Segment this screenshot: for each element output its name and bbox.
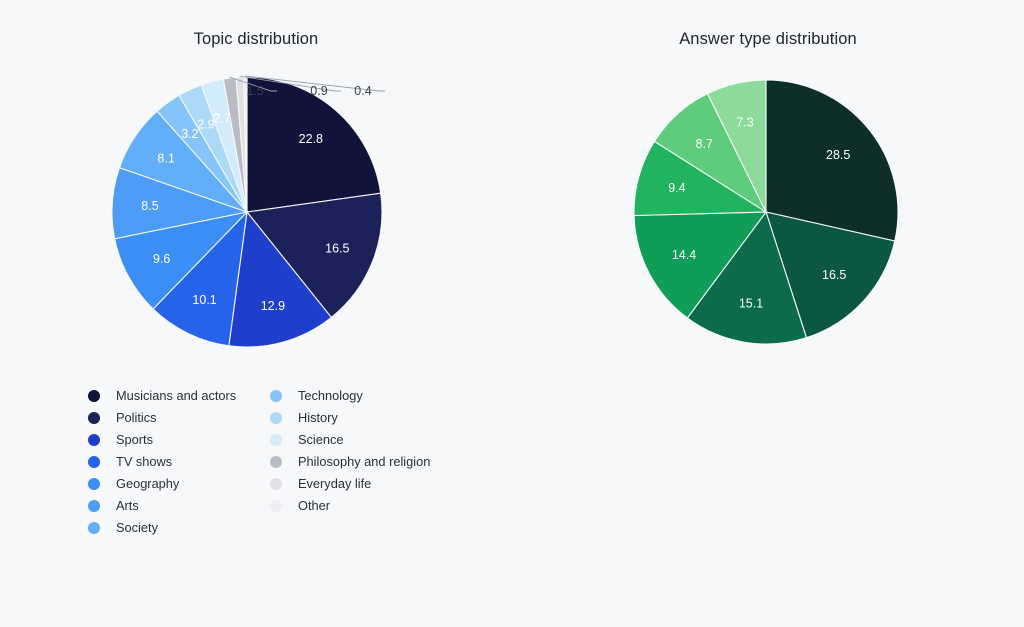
legend-item-label: Philosophy and religion — [298, 456, 430, 469]
legend-swatch-icon — [88, 522, 100, 534]
legend-swatch-icon — [88, 434, 100, 446]
pie-slice-value-label-outside: 1.5 — [246, 84, 263, 98]
legend-item-label: Sports — [116, 434, 153, 447]
pie-slice-value-label: 15.1 — [739, 297, 763, 311]
legend-swatch-icon — [270, 412, 282, 424]
pie-slice-value-label: 16.5 — [325, 241, 349, 255]
pie-slice-value-label: 8.5 — [141, 199, 158, 213]
legend-item-label: Geography — [116, 478, 179, 491]
pie-svg-answer-type: 28.516.515.114.49.48.77.3 — [616, 62, 916, 362]
legend-item[interactable]: Science — [270, 429, 430, 451]
legend-item-label: Musicians and actors — [116, 390, 236, 403]
legend-swatch-icon — [270, 434, 282, 446]
pie-slice-value-label: 7.3 — [736, 116, 753, 130]
legend-swatch-icon — [88, 500, 100, 512]
legend-item[interactable]: Other — [270, 495, 430, 517]
panel-topic-distribution: Topic distribution 22.816.512.910.19.68.… — [0, 0, 512, 627]
legend-topic-distribution: Musicians and actorsPoliticsSportsTV sho… — [88, 385, 430, 539]
legend-swatch-icon — [270, 500, 282, 512]
panel-answer-type-distribution: Answer type distribution 28.516.515.114.… — [512, 0, 1024, 627]
pie-slice-value-label: 2.9 — [197, 117, 214, 131]
legend-item[interactable]: Politics — [88, 407, 270, 429]
pie-slice-value-label-outside: 0.9 — [310, 84, 327, 98]
pie-slice-value-label: 12.9 — [261, 299, 285, 313]
legend-swatch-icon — [270, 478, 282, 490]
legend-item[interactable]: Society — [88, 517, 270, 539]
legend-item-label: Other — [298, 500, 330, 513]
legend-swatch-icon — [88, 478, 100, 490]
page-title-answer-type-distribution: Answer type distribution — [512, 30, 1024, 49]
pie-slice-value-label: 28.5 — [826, 148, 850, 162]
pie-slice-value-label: 9.6 — [153, 252, 170, 266]
legend-swatch-icon — [88, 412, 100, 424]
legend-item[interactable]: Everyday life — [270, 473, 430, 495]
pie-slice-value-label-outside: 0.4 — [354, 84, 371, 98]
legend-item[interactable]: Musicians and actors — [88, 385, 270, 407]
pie-slice-value-label: 14.4 — [672, 248, 696, 262]
legend-item[interactable]: Arts — [88, 495, 270, 517]
page-title-topic-distribution: Topic distribution — [0, 30, 512, 49]
legend-item-label: Science — [298, 434, 344, 447]
pie-svg-topic: 22.816.512.910.19.68.58.13.22.92.71.50.9… — [67, 62, 427, 362]
legend-item-label: Politics — [116, 412, 157, 425]
legend-item-label: Technology — [298, 390, 363, 403]
pie-chart-answer-type-distribution: 28.516.515.114.49.48.77.3 — [512, 62, 1024, 362]
legend-item-label: Society — [116, 522, 158, 535]
pie-slice-value-label: 16.5 — [822, 268, 846, 282]
legend-item[interactable]: History — [270, 407, 430, 429]
legend-item-label: Arts — [116, 500, 139, 513]
legend-item[interactable]: Philosophy and religion — [270, 451, 430, 473]
legend-item[interactable]: Geography — [88, 473, 270, 495]
pie-slice-value-label: 2.7 — [213, 112, 230, 126]
legend-item-label: History — [298, 412, 338, 425]
legend-item[interactable]: Sports — [88, 429, 270, 451]
legend-swatch-icon — [88, 456, 100, 468]
legend-item[interactable]: TV shows — [88, 451, 270, 473]
legend-item-label: Everyday life — [298, 478, 371, 491]
legend-item-label: TV shows — [116, 456, 172, 469]
legend-column-1: Musicians and actorsPoliticsSportsTV sho… — [88, 385, 270, 539]
pie-chart-topic-distribution: 22.816.512.910.19.68.58.13.22.92.71.50.9… — [0, 62, 512, 362]
charts-page: Topic distribution 22.816.512.910.19.68.… — [0, 0, 1024, 627]
legend-column-2: TechnologyHistorySciencePhilosophy and r… — [270, 385, 430, 539]
legend-swatch-icon — [270, 390, 282, 402]
legend-swatch-icon — [270, 456, 282, 468]
pie-slice-value-label: 8.7 — [696, 137, 713, 151]
pie-slice-value-label: 8.1 — [157, 152, 174, 166]
pie-slice-value-label: 9.4 — [668, 181, 685, 195]
pie-slice-value-label: 3.2 — [181, 127, 198, 141]
legend-item[interactable]: Technology — [270, 385, 430, 407]
legend-swatch-icon — [88, 390, 100, 402]
pie-slice-value-label: 22.8 — [299, 132, 323, 146]
pie-slice-value-label: 10.1 — [192, 293, 216, 307]
